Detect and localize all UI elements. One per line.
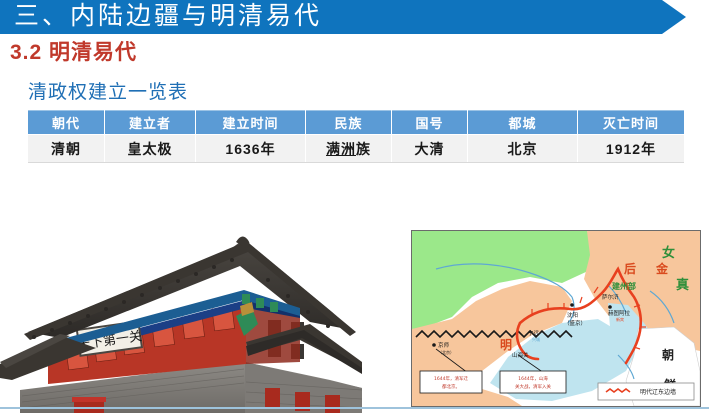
svg-text:宁远: 宁远 <box>528 329 540 337</box>
banner-title: 三、内陆边疆与明清易代 <box>14 0 322 33</box>
cell-ethnicity-rest: 族 <box>356 141 371 157</box>
cell-founder: 皇太极 <box>105 135 196 163</box>
column-header-capital: 都城 <box>468 111 578 135</box>
table-title: 清政权建立一览表 <box>28 77 188 104</box>
table-header-row: 朝代 建立者 建立时间 民族 国号 都城 灭亡时间 <box>28 111 684 135</box>
cell-capital: 北京 <box>468 135 578 163</box>
svg-text:1644年，清军迁: 1644年，清军迁 <box>434 375 468 382</box>
cell-state-name: 大清 <box>392 135 468 163</box>
table-row: 清朝 皇太极 1636年 满洲族 大清 北京 1912年 <box>28 135 684 163</box>
section-heading: 3.2 明清易代 <box>10 36 137 66</box>
svg-text:山海关: 山海关 <box>512 351 529 359</box>
svg-text:关大战，清军入关: 关大战，清军入关 <box>515 383 551 390</box>
svg-text:明: 明 <box>500 338 512 352</box>
svg-text:女: 女 <box>662 245 675 261</box>
svg-text:建州部: 建州部 <box>611 281 636 291</box>
svg-text:（盛京）: （盛京） <box>564 319 586 327</box>
svg-text:京师: 京师 <box>438 341 450 349</box>
header-banner: 三、内陆边疆与明清易代 <box>0 0 709 34</box>
bottom-divider <box>0 407 709 409</box>
column-header-ethnicity: 民族 <box>306 111 392 135</box>
svg-text:后: 后 <box>624 261 636 276</box>
svg-text:萨尔浒: 萨尔浒 <box>602 293 619 301</box>
svg-text:沈阳: 沈阳 <box>567 311 578 319</box>
svg-text:朝: 朝 <box>662 347 674 362</box>
column-header-ended: 灭亡时间 <box>578 111 685 135</box>
svg-text:1644年，山海: 1644年，山海 <box>518 375 548 382</box>
svg-text:兴城: 兴城 <box>532 336 540 342</box>
cell-ethnicity: 满洲族 <box>306 135 392 163</box>
svg-text:真: 真 <box>676 277 689 293</box>
column-header-founder: 建立者 <box>105 111 196 135</box>
historical-map: 女 真 后 金 建州部 明 朝 鲜 沈阳（盛京） 萨尔浒 赫图阿拉新宾 京师（北… <box>411 230 701 407</box>
column-header-founded: 建立时间 <box>196 111 306 135</box>
svg-text:都北京。: 都北京。 <box>442 383 460 390</box>
column-header-dynasty: 朝代 <box>28 111 105 135</box>
cell-ethnicity-underlined: 满洲 <box>326 141 356 157</box>
gate-tower-photo: 天下第一关 <box>0 212 362 413</box>
svg-text:明代辽东边墙: 明代辽东边墙 <box>640 388 676 396</box>
qing-dynasty-table: 朝代 建立者 建立时间 民族 国号 都城 灭亡时间 清朝 皇太极 1636年 满… <box>28 110 684 163</box>
cell-founded: 1636年 <box>196 135 306 163</box>
svg-text:新宾: 新宾 <box>616 316 624 322</box>
column-header-state-name: 国号 <box>392 111 468 135</box>
svg-text:金: 金 <box>655 261 669 276</box>
svg-text:赫图阿拉: 赫图阿拉 <box>608 309 631 317</box>
cell-dynasty: 清朝 <box>28 135 105 163</box>
cell-ended: 1912年 <box>578 135 685 163</box>
